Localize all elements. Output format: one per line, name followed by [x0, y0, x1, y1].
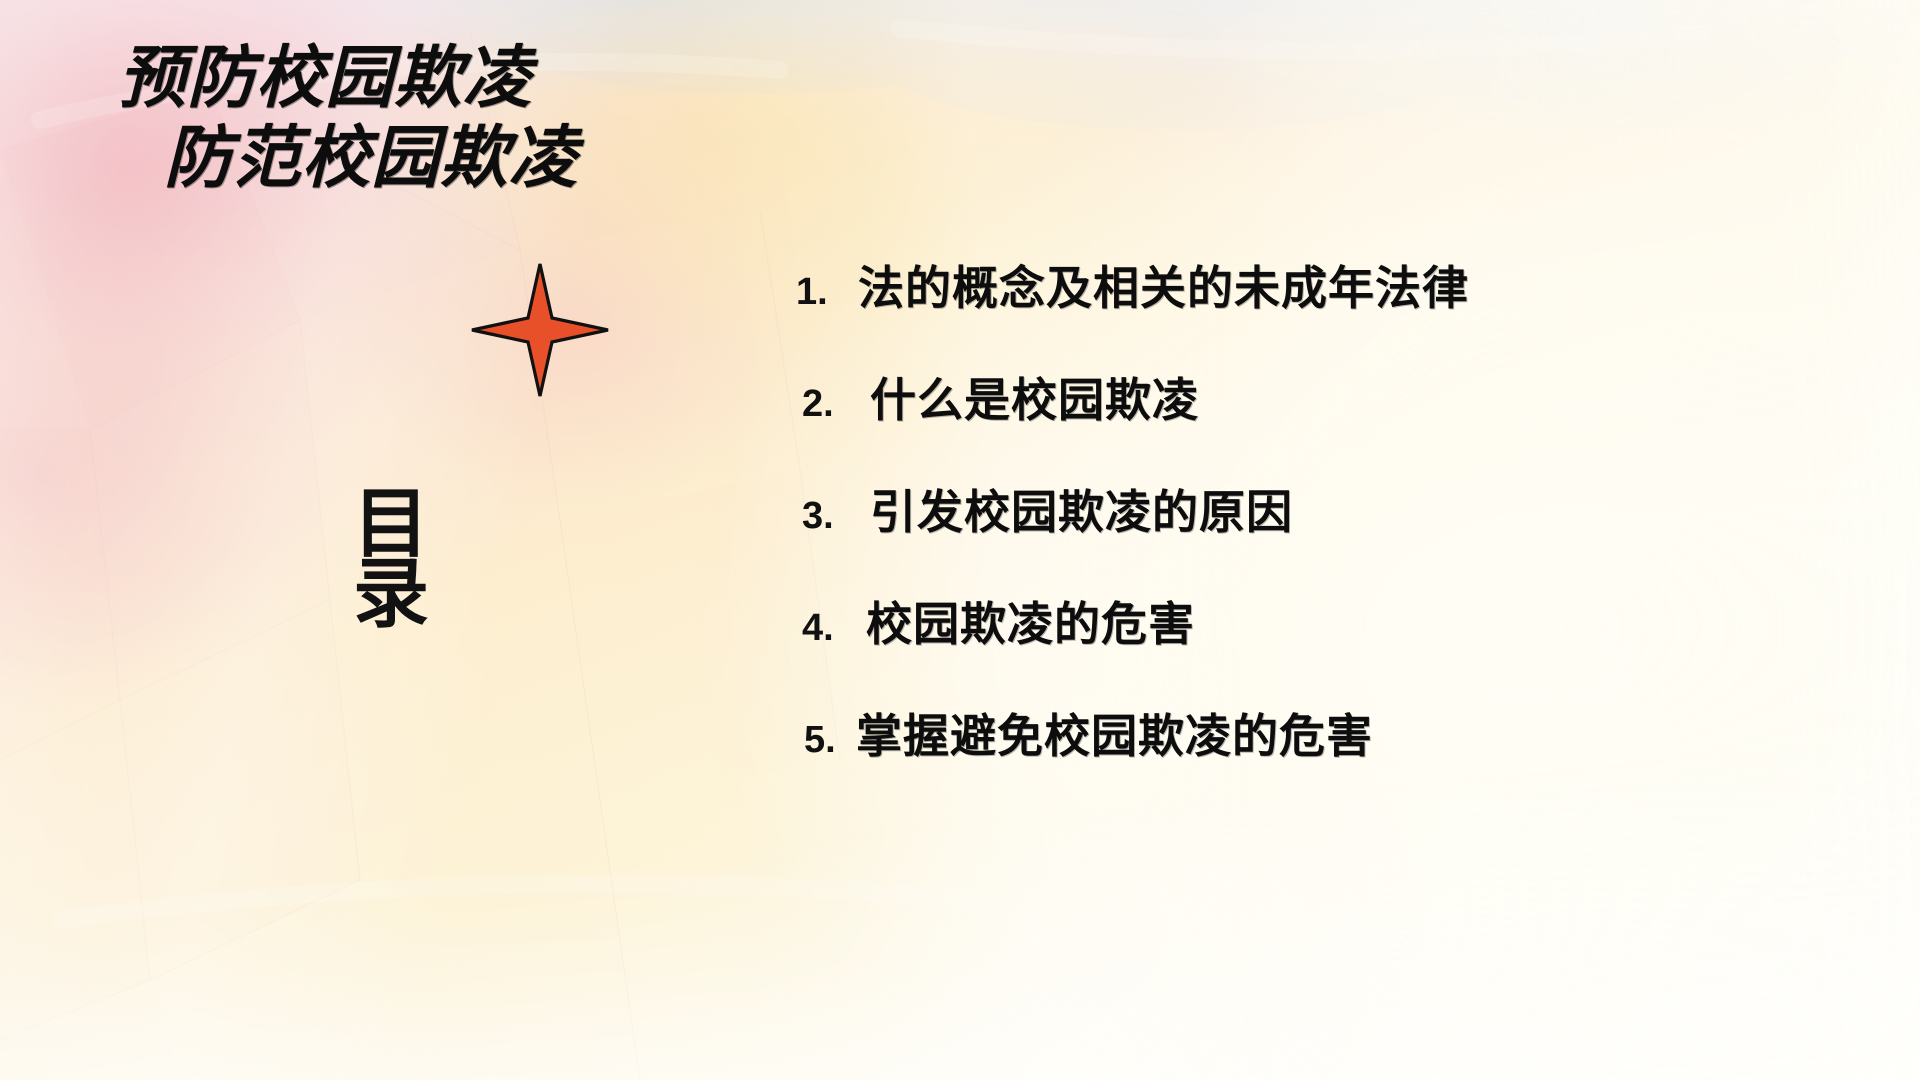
toc-item-3[interactable]: 3. 引发校园欺凌的原因: [802, 476, 1880, 542]
toc-item-5-number: 5.: [804, 719, 856, 762]
toc-list: 1. 法的概念及相关的未成年法律 2. 什么是校园欺凌 3. 引发校园欺凌的原因…: [790, 252, 1880, 812]
toc-item-2-label: 什么是校园欺凌: [870, 364, 1199, 430]
toc-item-2[interactable]: 2. 什么是校园欺凌: [802, 364, 1880, 430]
toc-label: 目 录: [348, 490, 434, 630]
toc-item-4-number: 4.: [802, 607, 860, 650]
toc-label-char-1: 目: [348, 490, 434, 560]
four-point-sparkle-icon: [470, 262, 610, 398]
presentation-slide: 预防校园欺凌 防范校园欺凌 目 录 1. 法的概念及相关的未成年法律 2. 什么…: [0, 0, 1920, 1080]
toc-item-1-number: 1.: [796, 271, 858, 314]
toc-item-3-number: 3.: [802, 495, 860, 538]
toc-item-5[interactable]: 5. 掌握避免校园欺凌的危害: [804, 700, 1880, 766]
slide-title-line-1: 预防校园欺凌: [118, 44, 578, 112]
slide-title: 预防校园欺凌 防范校园欺凌: [118, 44, 578, 192]
toc-item-1-label: 法的概念及相关的未成年法律: [858, 252, 1469, 318]
toc-item-1[interactable]: 1. 法的概念及相关的未成年法律: [796, 252, 1880, 318]
toc-item-2-number: 2.: [802, 383, 860, 426]
toc-item-4-label: 校园欺凌的危害: [866, 588, 1195, 654]
slide-title-line-2: 防范校园欺凌: [164, 124, 578, 192]
toc-item-5-label: 掌握避免校园欺凌的危害: [856, 700, 1373, 766]
toc-item-3-label: 引发校园欺凌的原因: [870, 476, 1293, 542]
toc-item-4[interactable]: 4. 校园欺凌的危害: [802, 588, 1880, 654]
toc-label-char-2: 录: [348, 560, 434, 630]
